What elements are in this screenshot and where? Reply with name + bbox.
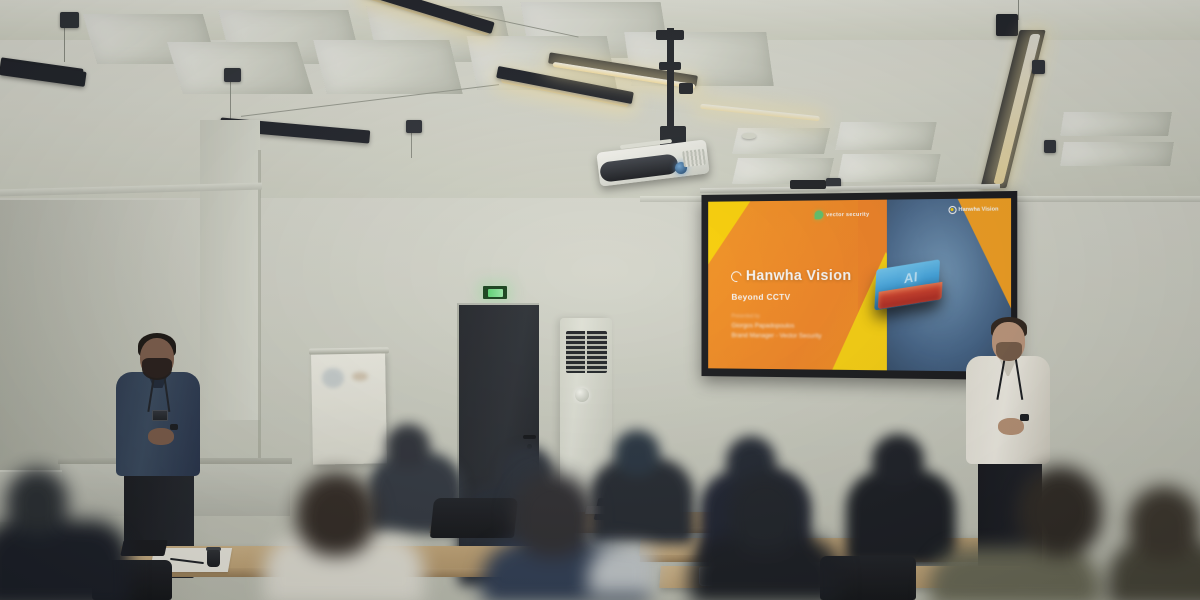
slide-logo-vector-security: vector security: [814, 210, 869, 220]
pendant-light: [996, 14, 1018, 36]
attendee-scarf: [588, 546, 654, 594]
slide-ai-label: AI: [903, 268, 918, 286]
ceiling-coffer: [837, 154, 940, 182]
coffee-cup[interactable]: [207, 550, 220, 567]
ceiling-speaker: [224, 68, 241, 82]
attendee-head: [386, 424, 430, 468]
suspension-wire: [230, 80, 231, 122]
projector-vent: [682, 149, 706, 168]
flipchart-easel: [311, 351, 387, 464]
ac-control-dial[interactable]: [575, 388, 589, 402]
slide-photo-mask: [958, 198, 1011, 308]
flipchart-writing: [322, 368, 344, 388]
slide-logo-hanwha-vision: Hanwha Vision: [948, 205, 998, 214]
pendant-mount-clip: [1032, 60, 1045, 74]
slide-title: Hanwha Vision: [731, 268, 851, 284]
presenter-left-watch: [170, 424, 178, 430]
slide-yellow-corner: [708, 201, 750, 264]
attendee-body: [0, 520, 130, 600]
presenter-left-beard: [142, 358, 172, 380]
suspension-wire: [64, 22, 65, 62]
slide-logo-right-label: Hanwha Vision: [958, 206, 998, 213]
attendee-head: [726, 470, 804, 552]
screen-ceiling-mount: [790, 180, 826, 189]
ceiling-coffer: [1060, 112, 1172, 136]
flipchart-writing: [352, 372, 368, 381]
chair[interactable]: [430, 498, 518, 538]
attendee-head: [6, 468, 68, 534]
ceiling-coffer: [732, 128, 830, 154]
slide-subtitle: Beyond CCTV: [731, 292, 790, 302]
projector-mount-bracket: [656, 30, 684, 40]
projection-screen: AI vector security Hanwha Vision Hanwha …: [702, 191, 1018, 380]
slide-presenter-role: Brand Manager - Vector Security: [731, 332, 821, 342]
projector-mount-bracket: [679, 83, 693, 94]
slide-logo-top-label: vector security: [826, 212, 869, 218]
slide-presenter-prefix: Presented by: [731, 313, 759, 319]
presenter-left-badge: [152, 410, 168, 421]
hanwha-swoosh-icon: [729, 269, 744, 284]
door-handle[interactable]: [523, 435, 536, 439]
conference-room-photo: AI vector security Hanwha Vision Hanwha …: [0, 0, 1200, 600]
ceiling-coffer: [835, 122, 936, 150]
pendant-light-glow: [700, 104, 820, 122]
presenter-right-beard: [996, 342, 1022, 361]
pendant-mount-clip: [1044, 140, 1056, 153]
wall-corner-edge: [258, 150, 261, 480]
ac-louver-grille: [566, 331, 607, 373]
ceiling-speaker: [60, 12, 79, 28]
slide-presenter-block: Giorgos Papadopoulos Brand Manager - Vec…: [731, 322, 821, 342]
suspension-wire: [1018, 0, 1019, 20]
attendee-head: [872, 434, 924, 486]
attendee-head: [512, 472, 594, 558]
exit-sign: [483, 286, 507, 299]
presenter-left-hands: [148, 428, 174, 445]
attendee-head: [296, 472, 376, 556]
presenter-right-watch: [1020, 414, 1029, 421]
presentation-slide: AI vector security Hanwha Vision Hanwha …: [708, 198, 1011, 372]
attendee-body: [930, 548, 1100, 600]
exit-sign-glyph: [488, 289, 503, 297]
projector-mount-bracket: [659, 62, 681, 70]
slide-title-text: Hanwha Vision: [746, 268, 852, 284]
slide-presenter-name: Giorgos Papadopoulos: [731, 322, 821, 332]
smoke-detector: [742, 133, 756, 139]
ceiling-coffer: [1060, 142, 1174, 166]
ceiling-speaker: [406, 120, 422, 133]
hanwha-mark-icon: [948, 206, 956, 214]
attendee-head: [1128, 486, 1200, 560]
vector-security-mark-icon: [814, 211, 823, 220]
ceiling-coffer: [313, 40, 462, 94]
attendee-head: [614, 430, 660, 476]
attendee-head: [1018, 466, 1102, 556]
